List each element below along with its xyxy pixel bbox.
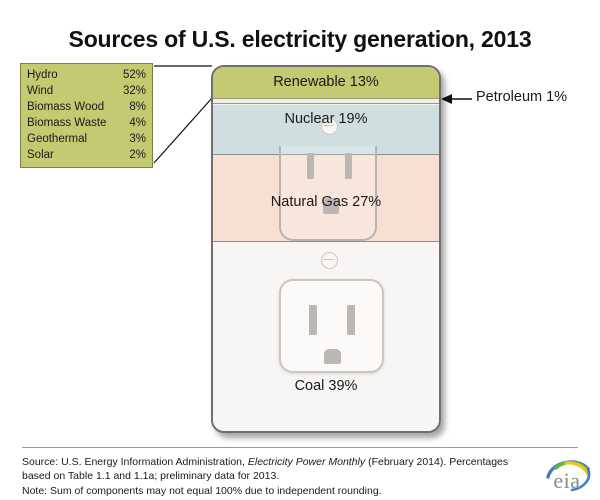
- legend-label: Solar: [27, 147, 54, 163]
- band-petroleum: [213, 98, 439, 104]
- legend-row: Geothermal 3%: [27, 131, 146, 147]
- legend-value: 52%: [123, 67, 146, 83]
- socket-slot-right: [345, 153, 352, 179]
- petroleum-arrow-head: [441, 94, 452, 104]
- band-label-nuclear: Nuclear 19%: [213, 111, 439, 127]
- legend-value: 32%: [123, 83, 146, 99]
- legend-row: Biomass Waste 4%: [27, 115, 146, 131]
- renewable-breakdown-legend: Hydro 52% Wind 32% Biomass Wood 8% Bioma…: [20, 63, 153, 168]
- band-label-coal: Coal 39%: [213, 378, 439, 394]
- lower-outlet-socket-icon: [279, 279, 384, 373]
- eia-logo: eia: [542, 455, 592, 495]
- socket-slot-right: [347, 305, 355, 335]
- band-label-renewable: Renewable 13%: [213, 74, 439, 90]
- footnote-source-prefix: Source: U.S. Energy Information Administ…: [22, 456, 248, 468]
- legend-value: 2%: [129, 147, 146, 163]
- legend-value: 8%: [129, 99, 146, 115]
- page-title: Sources of U.S. electricity generation, …: [0, 26, 600, 53]
- legend-label: Wind: [27, 83, 53, 99]
- eia-wordmark: eia: [542, 468, 592, 494]
- outlet-plate-chart: Renewable 13% Nuclear 19% Natural Gas 27…: [211, 65, 441, 433]
- legend-row: Hydro 52%: [27, 67, 146, 83]
- socket-slot-left: [307, 153, 314, 179]
- legend-label: Geothermal: [27, 131, 87, 147]
- socket-slot-left: [309, 305, 317, 335]
- legend-label: Biomass Waste: [27, 115, 106, 131]
- legend-label: Biomass Wood: [27, 99, 104, 115]
- band-label-natural-gas: Natural Gas 27%: [213, 194, 439, 210]
- legend-value: 4%: [129, 115, 146, 131]
- legend-row: Biomass Wood 8%: [27, 99, 146, 115]
- screw-icon-lower: [321, 252, 338, 269]
- footnote-source-publication: Electricity Power Monthly: [248, 456, 365, 468]
- legend-value: 3%: [129, 131, 146, 147]
- leader-line-bottom: [154, 98, 212, 163]
- footnote-source: Source: U.S. Energy Information Administ…: [22, 455, 532, 483]
- callout-label-petroleum: Petroleum 1%: [476, 89, 567, 105]
- footer-divider: [22, 447, 578, 448]
- legend-label: Hydro: [27, 67, 58, 83]
- footnote-note: Note: Sum of components may not equal 10…: [22, 484, 532, 498]
- legend-row: Wind 32%: [27, 83, 146, 99]
- legend-row: Solar 2%: [27, 147, 146, 163]
- socket-ground-hole: [324, 349, 341, 364]
